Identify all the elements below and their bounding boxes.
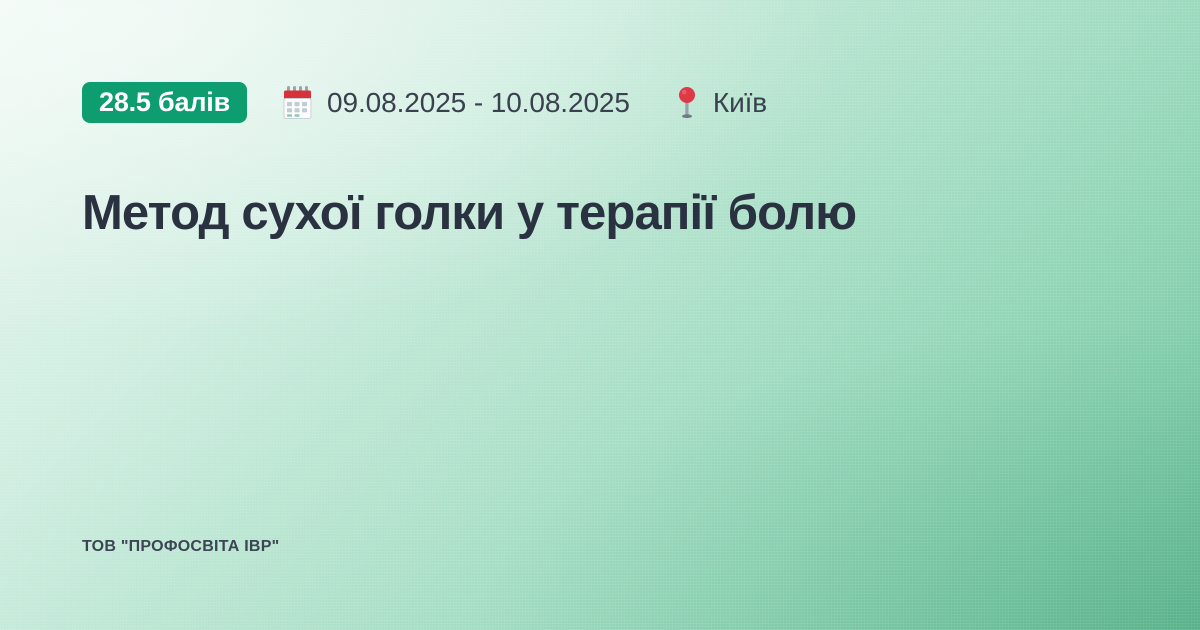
event-dates-text: 09.08.2025 - 10.08.2025 bbox=[327, 87, 630, 119]
event-banner-card: 28.5 балів bbox=[0, 0, 1200, 630]
organizer-name: ТОВ "ПРОФОСВІТА ІВР" bbox=[82, 538, 280, 556]
calendar-icon bbox=[283, 86, 313, 120]
points-badge: 28.5 балів bbox=[82, 82, 247, 123]
event-dates: 09.08.2025 - 10.08.2025 bbox=[283, 86, 630, 120]
event-meta-row: 28.5 балів bbox=[82, 82, 1118, 123]
event-title: Метод сухої голки у терапії болю bbox=[82, 185, 1092, 242]
card-content: 28.5 балів bbox=[0, 0, 1200, 630]
event-location: Київ bbox=[676, 86, 767, 120]
map-pin-icon bbox=[676, 86, 698, 120]
event-location-text: Київ bbox=[713, 87, 767, 119]
